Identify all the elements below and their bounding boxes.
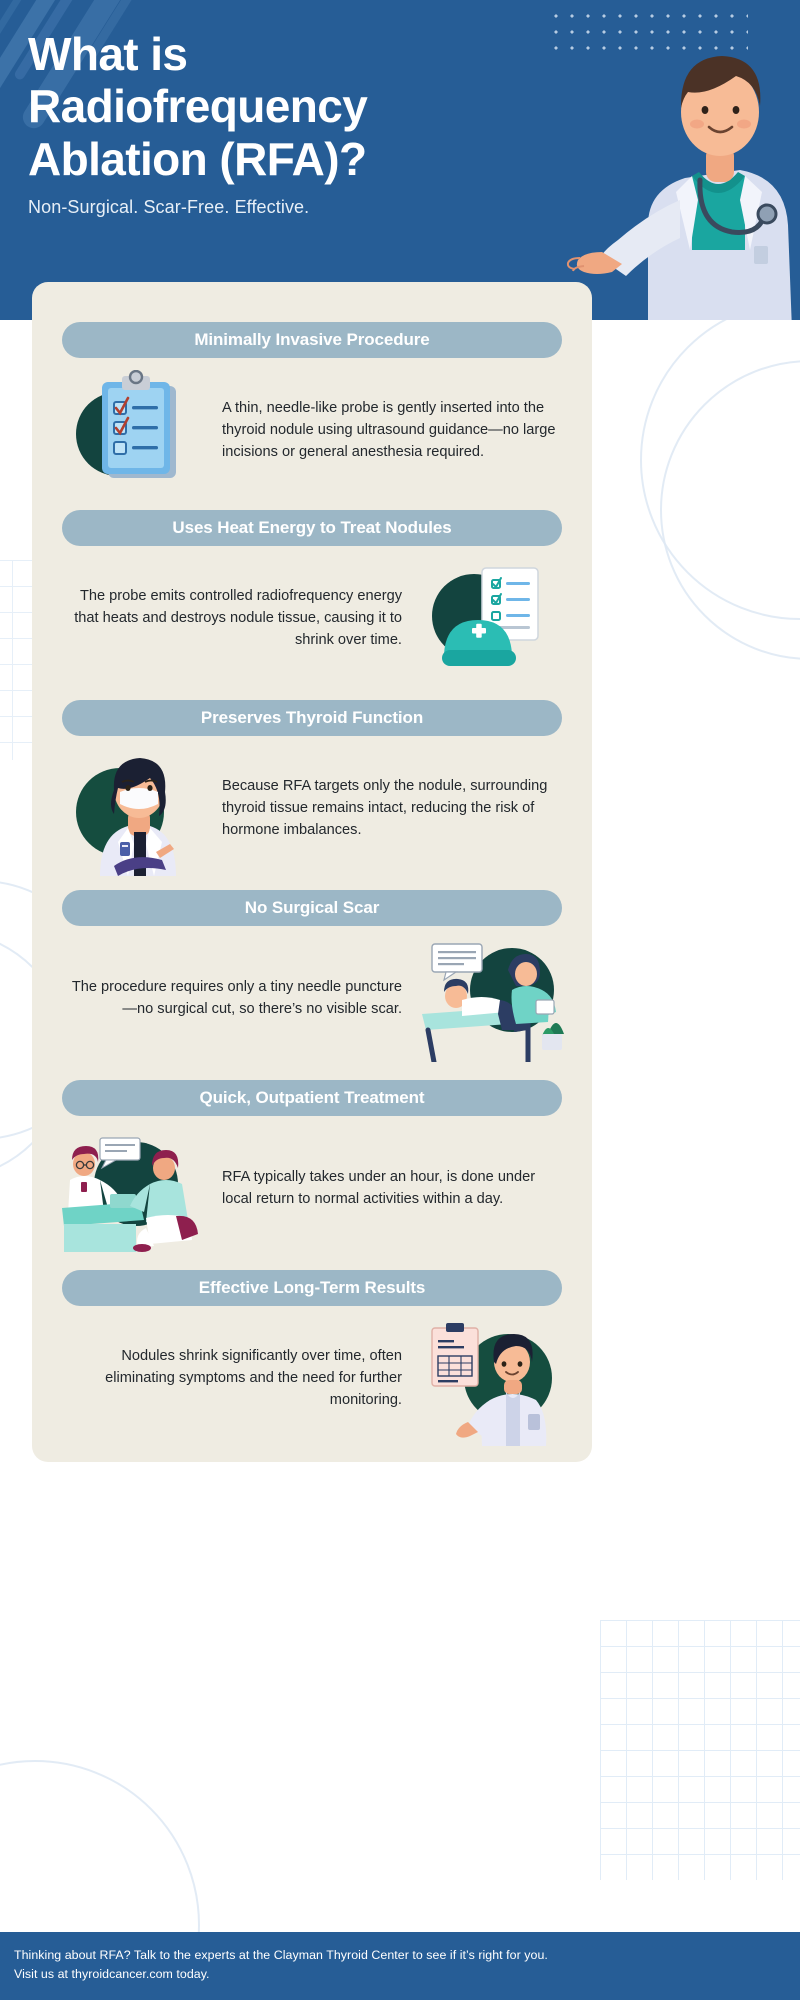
section-content-row: A thin, needle-like probe is gently inse… — [32, 370, 592, 490]
section-content-row: The procedure requires only a tiny needl… — [32, 938, 592, 1058]
header-title-block: What is Radiofrequency Ablation (RFA)? N… — [28, 28, 548, 218]
section-heading-pill: Effective Long-Term Results — [62, 1270, 562, 1306]
section-minimally-invasive: Minimally Invasive Procedure — [32, 322, 592, 490]
decor-circle-right-1 — [640, 300, 800, 620]
page-title: What is Radiofrequency Ablation (RFA)? — [28, 28, 548, 185]
page-title-line-2: Radiofrequency — [28, 80, 548, 132]
section-body-text: The probe emits controlled radiofrequenc… — [58, 585, 402, 652]
footer-cta-bar: Thinking about RFA? Talk to the experts … — [0, 1932, 800, 2000]
section-content-row: RFA typically takes under an hour, is do… — [32, 1128, 592, 1248]
section-preserves-function: Preserves Thyroid Function — [32, 700, 592, 868]
header-banner: What is Radiofrequency Ablation (RFA)? N… — [0, 0, 800, 320]
decor-circle-right-2 — [660, 360, 800, 660]
section-heading-label: No Surgical Scar — [245, 898, 379, 918]
section-body-text: Nodules shrink significantly over time, … — [58, 1345, 402, 1412]
section-heading-pill: Minimally Invasive Procedure — [62, 322, 562, 358]
section-heading-pill: Quick, Outpatient Treatment — [62, 1080, 562, 1116]
section-content-row: Nodules shrink significantly over time, … — [32, 1318, 592, 1438]
section-body-text: A thin, needle-like probe is gently inse… — [222, 397, 566, 464]
medical-cap-documents-icon — [416, 558, 566, 678]
page-title-line-3: Ablation (RFA)? — [28, 133, 548, 185]
patient-on-exam-table-icon — [416, 938, 566, 1058]
section-heading-label: Quick, Outpatient Treatment — [200, 1088, 425, 1108]
decor-grid-bottom-right — [600, 1620, 800, 1880]
section-heading-label: Uses Heat Energy to Treat Nodules — [172, 518, 451, 538]
content-card: Minimally Invasive Procedure — [32, 282, 592, 1462]
section-body-text: The procedure requires only a tiny needl… — [58, 976, 402, 1020]
section-long-term-results: Effective Long-Term Results — [32, 1270, 592, 1438]
section-heading-pill: No Surgical Scar — [62, 890, 562, 926]
footer-text-line-1: Thinking about RFA? Talk to the experts … — [14, 1946, 786, 1965]
section-heat-energy: Uses Heat Energy to Treat Nodules — [32, 510, 592, 678]
section-heading-label: Minimally Invasive Procedure — [194, 330, 429, 350]
section-no-scar: No Surgical Scar — [32, 890, 592, 1058]
page-subtitle: Non-Surgical. Scar-Free. Effective. — [28, 197, 548, 218]
section-body-text: Because RFA targets only the nodule, sur… — [222, 775, 566, 842]
section-quick-outpatient: Quick, Outpatient Treatment — [32, 1080, 592, 1248]
section-heading-label: Effective Long-Term Results — [199, 1278, 426, 1298]
section-heading-pill: Uses Heat Energy to Treat Nodules — [62, 510, 562, 546]
section-content-row: Because RFA targets only the nodule, sur… — [32, 748, 592, 868]
section-heading-label: Preserves Thyroid Function — [201, 708, 423, 728]
female-doctor-clipboard-icon — [58, 748, 208, 868]
footer-text-line-2: Visit us at thyroidcancer.com today. — [14, 1965, 786, 1984]
doctor-illustration-icon — [540, 0, 800, 320]
infographic-page: What is Radiofrequency Ablation (RFA)? N… — [0, 0, 800, 2000]
section-content-row: The probe emits controlled radiofrequenc… — [32, 558, 592, 678]
section-heading-pill: Preserves Thyroid Function — [62, 700, 562, 736]
page-title-line-1: What is — [28, 28, 548, 80]
doctor-with-chart-icon — [416, 1318, 566, 1438]
section-body-text: RFA typically takes under an hour, is do… — [222, 1166, 566, 1210]
clipboard-checklist-icon — [58, 370, 208, 490]
reception-consultation-icon — [58, 1128, 208, 1248]
